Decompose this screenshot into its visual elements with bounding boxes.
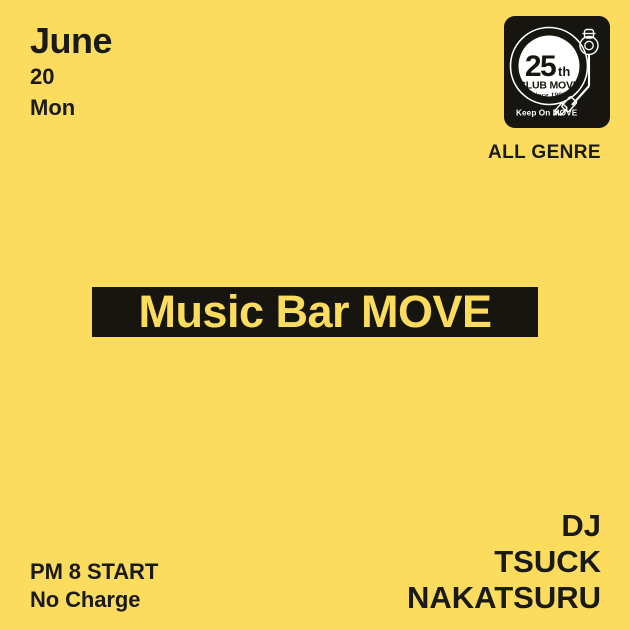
charge-info: No Charge [30, 586, 158, 614]
event-title: Music Bar MOVE [138, 289, 491, 334]
event-date: June 20 Mon [30, 22, 112, 124]
club-move-logo: 25 th CLUB MOVE since 1997 Keep On MOVE [504, 16, 610, 128]
event-day: 20 [30, 61, 112, 93]
event-info: PM 8 START No Charge [30, 558, 158, 614]
all-genre-label: ALL GENRE [488, 142, 601, 164]
dj-lineup-line: TSUCK [407, 544, 601, 580]
svg-text:Keep On MOVE: Keep On MOVE [516, 109, 578, 118]
event-flyer: June 20 Mon 25 th CLUB MOVE since 1997 [0, 0, 630, 630]
event-title-banner: Music Bar MOVE [92, 287, 538, 337]
svg-text:since 1997: since 1997 [531, 91, 566, 100]
svg-text:25: 25 [525, 50, 556, 83]
dj-lineup-line: DJ [407, 508, 601, 544]
start-time: PM 8 START [30, 558, 158, 586]
dj-lineup-line: NAKATSURU [407, 580, 601, 616]
svg-text:th: th [558, 64, 570, 79]
event-weekday: Mon [30, 93, 112, 124]
dj-lineup: DJ TSUCK NAKATSURU [407, 508, 601, 616]
event-month: June [30, 22, 112, 61]
